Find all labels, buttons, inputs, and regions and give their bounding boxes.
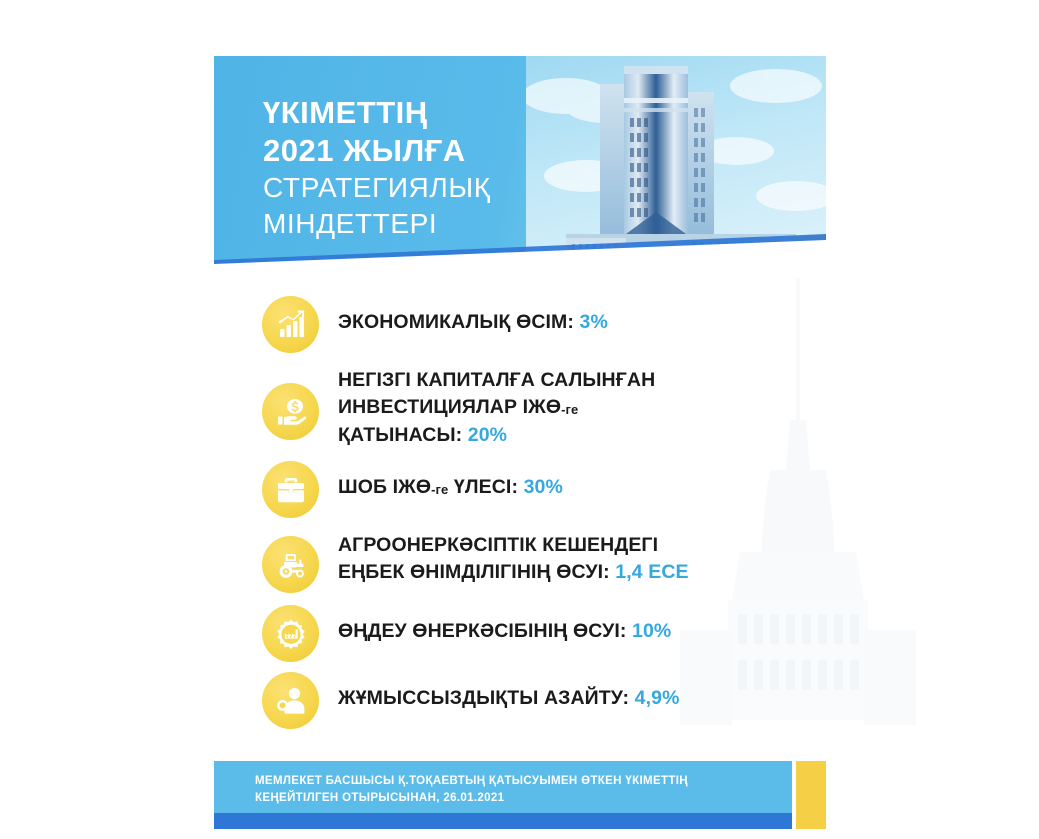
- goal-label-main: ШОБ ІЖӨ: [338, 476, 431, 498]
- bar-chart-growth-icon: [262, 296, 319, 353]
- goal-text: АГРООНЕРКӘСІПТІК КЕШЕНДЕГІ ЕҢБЕК ӨНІМДІЛ…: [338, 532, 689, 586]
- goal-label-suffix: -ге: [431, 482, 448, 497]
- goal-item-sme-share: ШОБ ІЖӨ-ге ҮЛЕСІ: 30%: [262, 461, 902, 518]
- goal-item-unemployment: ЖҰМЫССЫЗДЫҚТЫ АЗАЙТУ: 4,9%: [262, 672, 902, 729]
- footer-caption: МЕМЛЕКЕТ БАСШЫСЫ Қ.ТОҚАЕВТЫҢ ҚАТЫСУЫМЕН …: [255, 773, 775, 807]
- goal-text: ШОБ ІЖӨ-ге ҮЛЕСІ: 30%: [338, 461, 563, 502]
- goal-value: 10%: [632, 620, 671, 642]
- job-seeker-person-icon: [262, 672, 319, 729]
- goal-label-line-3-main: ҚАТЫНАСЫ:: [338, 424, 468, 446]
- gear-factory-icon: [262, 605, 319, 662]
- goal-label-line-2: ИНВЕСТИЦИЯЛАР ІЖӨ-ге: [338, 394, 655, 422]
- page-title: ҮКІМЕТТІҢ 2021 ЖЫЛҒА СТРАТЕГИЯЛЫҚ МІНДЕТ…: [263, 94, 491, 242]
- briefcase-icon: [262, 461, 319, 518]
- hand-holding-money-icon: [262, 383, 319, 440]
- footer-line-2: КЕҢЕЙТІЛГЕН ОТЫРЫСЫНАН, 26.01.2021: [255, 790, 775, 807]
- goal-text: ЖҰМЫССЫЗДЫҚТЫ АЗАЙТУ: 4,9%: [338, 672, 680, 712]
- title-line-3: СТРАТЕГИЯЛЫҚ: [263, 170, 491, 206]
- goal-value: 3%: [580, 311, 608, 333]
- footer-blue-strip: [214, 813, 792, 829]
- goal-label-line-1: НЕГІЗГІ КАПИТАЛҒА САЛЫНҒАН: [338, 367, 655, 394]
- goal-label-line-2-main: ЕҢБЕК ӨНІМДІЛІГІНІҢ ӨСУІ:: [338, 561, 615, 583]
- goal-item-manufacturing-growth: ӨҢДЕУ ӨНЕРКӘСІБІНІҢ ӨСУІ: 10%: [262, 605, 902, 662]
- goal-text: ЭКОНОМИКАЛЫҚ ӨСІМ: 3%: [338, 296, 608, 336]
- footer-banner: МЕМЛЕКЕТ БАСШЫСЫ Қ.ТОҚАЕВТЫҢ ҚАТЫСУЫМЕН …: [214, 761, 826, 829]
- goal-item-investment-to-gdp: НЕГІЗГІ КАПИТАЛҒА САЛЫНҒАН ИНВЕСТИЦИЯЛАР…: [262, 367, 902, 449]
- title-line-2: 2021 ЖЫЛҒА: [263, 132, 491, 170]
- footer-yellow-strip: [796, 761, 826, 829]
- goal-label-line-1: АГРООНЕРКӘСІПТІК КЕШЕНДЕГІ: [338, 532, 689, 559]
- goal-value: 30%: [524, 476, 563, 498]
- title-line-1: ҮКІМЕТТІҢ: [263, 94, 491, 132]
- goals-list: ЭКОНОМИКАЛЫҚ ӨСІМ: 3% НЕГІЗГІ КАПИТАЛҒА …: [262, 296, 902, 737]
- goal-label: ЖҰМЫССЫЗДЫҚТЫ АЗАЙТУ:: [338, 687, 635, 709]
- goal-item-economic-growth: ЭКОНОМИКАЛЫҚ ӨСІМ: 3%: [262, 296, 902, 353]
- goal-label: ЭКОНОМИКАЛЫҚ ӨСІМ:: [338, 311, 580, 333]
- goal-label-line-2: ЕҢБЕК ӨНІМДІЛІГІНІҢ ӨСУІ: 1,4 ЕСЕ: [338, 559, 689, 586]
- goal-text: ӨҢДЕУ ӨНЕРКӘСІБІНІҢ ӨСУІ: 10%: [338, 605, 671, 645]
- goal-item-agro-productivity: АГРООНЕРКӘСІПТІК КЕШЕНДЕГІ ЕҢБЕК ӨНІМДІЛ…: [262, 532, 902, 593]
- tractor-icon: [262, 536, 319, 593]
- infographic-poster: ҮКІМЕТТІҢ 2021 ЖЫЛҒА СТРАТЕГИЯЛЫҚ МІНДЕТ…: [0, 0, 1039, 839]
- goal-text: НЕГІЗГІ КАПИТАЛҒА САЛЫНҒАН ИНВЕСТИЦИЯЛАР…: [338, 367, 655, 449]
- goal-value: 4,9%: [635, 687, 680, 709]
- header-banner: ҮКІМЕТТІҢ 2021 ЖЫЛҒА СТРАТЕГИЯЛЫҚ МІНДЕТ…: [214, 56, 826, 278]
- goal-label-line-3: ҚАТЫНАСЫ: 20%: [338, 422, 655, 449]
- header-blue-wedge: [214, 234, 826, 278]
- goal-value: 1,4 ЕСЕ: [615, 561, 688, 583]
- goal-label-tail: ҮЛЕСІ:: [448, 476, 523, 498]
- footer-line-1: МЕМЛЕКЕТ БАСШЫСЫ Қ.ТОҚАЕВТЫҢ ҚАТЫСУЫМЕН …: [255, 773, 775, 790]
- goal-label-line-2-main: ИНВЕСТИЦИЯЛАР ІЖӨ: [338, 396, 561, 418]
- goal-label-suffix: -ге: [561, 402, 578, 417]
- goal-value: 20%: [468, 424, 507, 446]
- goal-label: ӨҢДЕУ ӨНЕРКӘСІБІНІҢ ӨСУІ:: [338, 620, 632, 642]
